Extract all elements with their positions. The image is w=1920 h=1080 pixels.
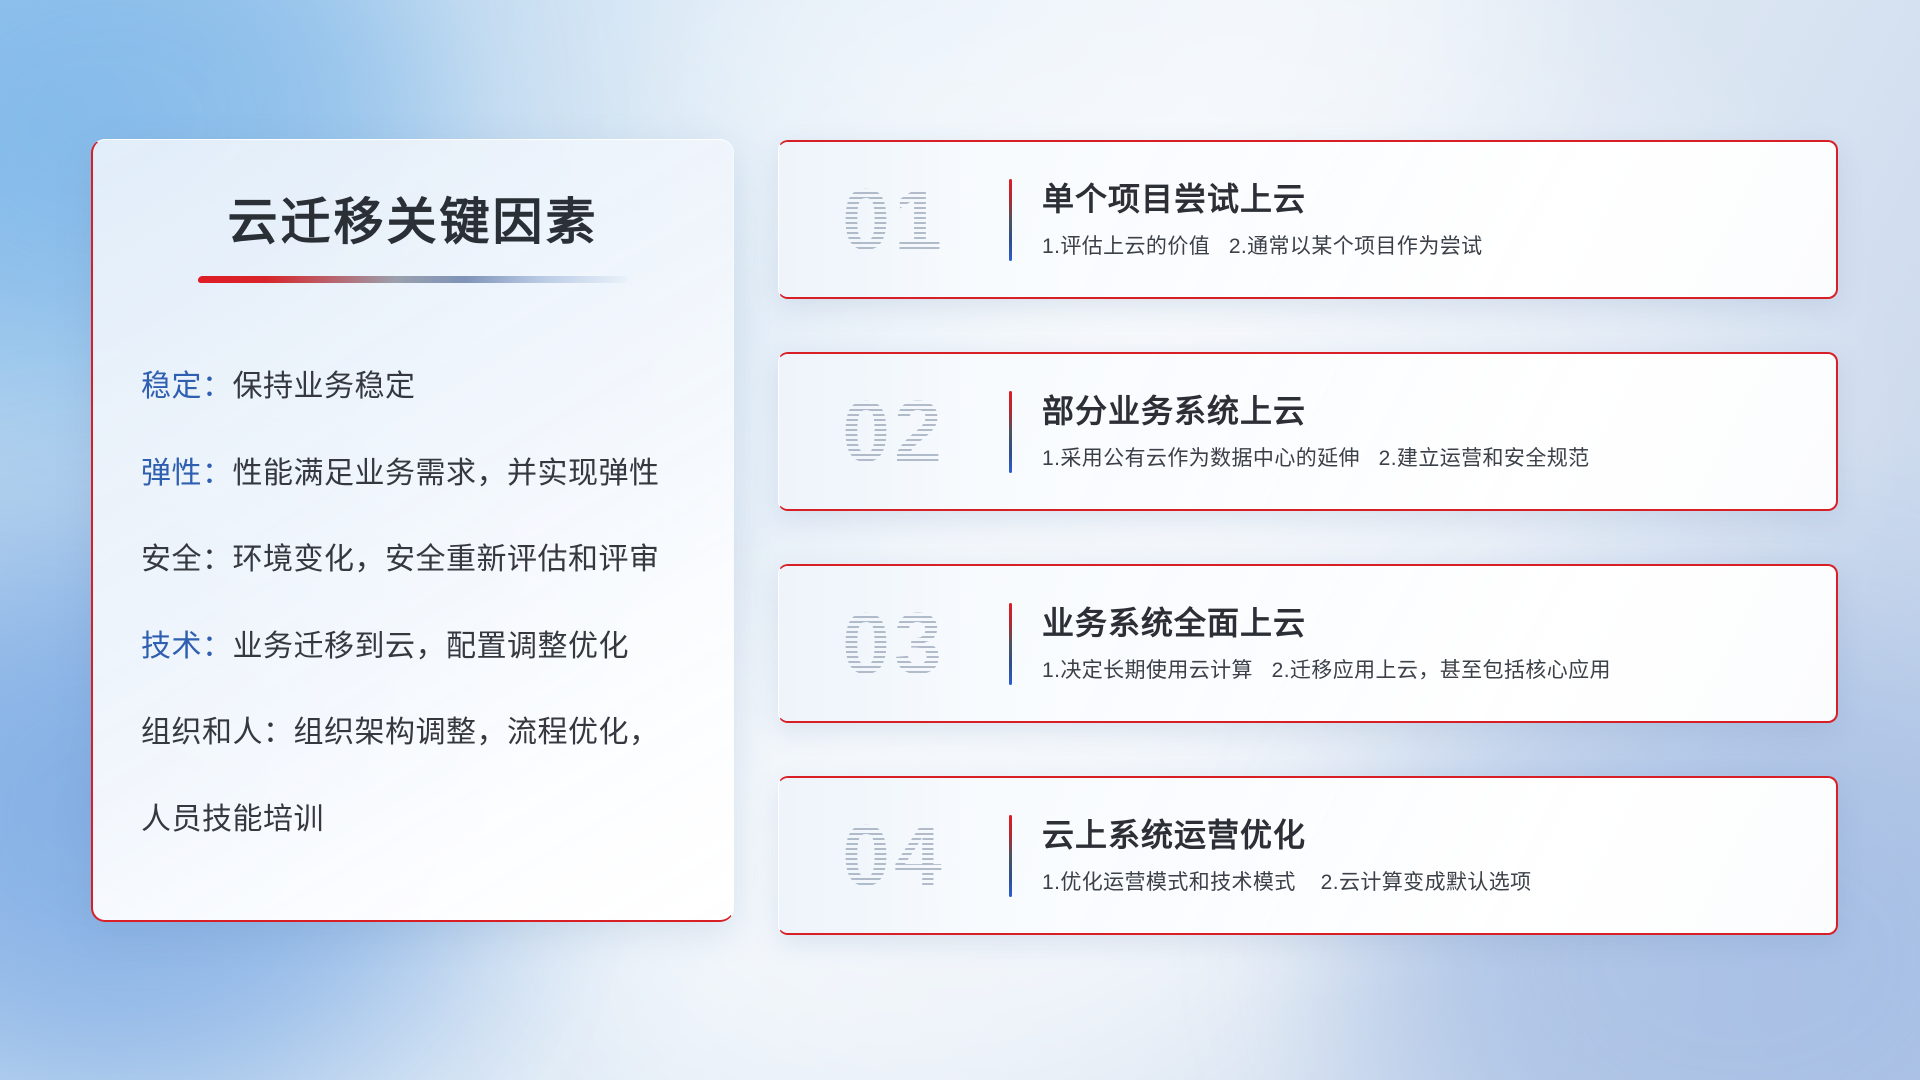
list-item-key: 弹性： xyxy=(141,457,233,490)
list-item-text: 保持业务稳定 xyxy=(233,370,416,403)
stage-description: 1.决定长期使用云计算 2.迁移应用上云，甚至包括核心应用 xyxy=(1042,657,1812,684)
list-item: 安全：环境变化，安全重新评估和评审 xyxy=(141,540,687,581)
list-item-text: 组织架构调整，流程优化， xyxy=(294,716,660,749)
list-item: 弹性：性能满足业务需求，并实现弹性 xyxy=(141,454,687,495)
list-item-key: 安全： xyxy=(141,543,233,576)
stage-title: 单个项目尝试上云 xyxy=(1042,179,1812,219)
stage-number: 02 xyxy=(779,389,1009,475)
list-item-text: 人员技能培训 xyxy=(141,803,324,836)
stage-card-03[interactable]: 03 业务系统全面上云 1.决定长期使用云计算 2.迁移应用上云，甚至包括核心应… xyxy=(778,564,1838,723)
list-item-key: 稳定： xyxy=(141,370,233,403)
migration-stages-list: 01 单个项目尝试上云 1.评估上云的价值 2.通常以某个项目作为尝试 02 部… xyxy=(778,140,1838,988)
stage-divider-accent xyxy=(1009,603,1012,685)
list-item-text: 环境变化，安全重新评估和评审 xyxy=(233,543,660,576)
stage-description: 1.优化运营模式和技术模式 2.云计算变成默认选项 xyxy=(1042,869,1812,896)
list-item-text: 业务迁移到云，配置调整优化 xyxy=(233,630,630,663)
stage-content: 单个项目尝试上云 1.评估上云的价值 2.通常以某个项目作为尝试 xyxy=(1042,179,1836,260)
list-item-key: 组织和人： xyxy=(141,716,294,749)
stage-card-02[interactable]: 02 部分业务系统上云 1.采用公有云作为数据中心的延伸 2.建立运营和安全规范 xyxy=(778,352,1838,511)
stage-title: 业务系统全面上云 xyxy=(1042,603,1812,643)
list-item: 稳定：保持业务稳定 xyxy=(141,367,687,408)
list-item: 组织和人：组织架构调整，流程优化， xyxy=(141,713,687,754)
stage-content: 云上系统运营优化 1.优化运营模式和技术模式 2.云计算变成默认选项 xyxy=(1042,815,1836,896)
stage-card-01[interactable]: 01 单个项目尝试上云 1.评估上云的价值 2.通常以某个项目作为尝试 xyxy=(778,140,1838,299)
slide-canvas: 云迁移关键因素 稳定：保持业务稳定 弹性：性能满足业务需求，并实现弹性 安全：环… xyxy=(0,0,1920,1080)
stage-title: 云上系统运营优化 xyxy=(1042,815,1812,855)
stage-divider-accent xyxy=(1009,391,1012,473)
list-item-key: 技术： xyxy=(141,630,233,663)
stage-description: 1.采用公有云作为数据中心的延伸 2.建立运营和安全规范 xyxy=(1042,445,1812,472)
stage-card-04[interactable]: 04 云上系统运营优化 1.优化运营模式和技术模式 2.云计算变成默认选项 xyxy=(778,776,1838,935)
stage-number: 04 xyxy=(779,813,1009,899)
title-underline-accent xyxy=(197,276,628,283)
stage-number: 03 xyxy=(779,601,1009,687)
stage-description: 1.评估上云的价值 2.通常以某个项目作为尝试 xyxy=(1042,233,1812,260)
list-item: 技术：业务迁移到云，配置调整优化 xyxy=(141,627,687,668)
list-item-text: 性能满足业务需求，并实现弹性 xyxy=(233,457,660,490)
stage-divider-accent xyxy=(1009,815,1012,897)
stage-content: 部分业务系统上云 1.采用公有云作为数据中心的延伸 2.建立运营和安全规范 xyxy=(1042,391,1836,472)
page-title: 云迁移关键因素 xyxy=(93,195,733,250)
key-factors-list: 稳定：保持业务稳定 弹性：性能满足业务需求，并实现弹性 安全：环境变化，安全重新… xyxy=(93,367,733,840)
stage-title: 部分业务系统上云 xyxy=(1042,391,1812,431)
stage-number: 01 xyxy=(779,177,1009,263)
key-factors-card: 云迁移关键因素 稳定：保持业务稳定 弹性：性能满足业务需求，并实现弹性 安全：环… xyxy=(91,139,734,922)
stage-divider-accent xyxy=(1009,179,1012,261)
stage-content: 业务系统全面上云 1.决定长期使用云计算 2.迁移应用上云，甚至包括核心应用 xyxy=(1042,603,1836,684)
list-item-continuation: 人员技能培训 xyxy=(141,800,687,841)
